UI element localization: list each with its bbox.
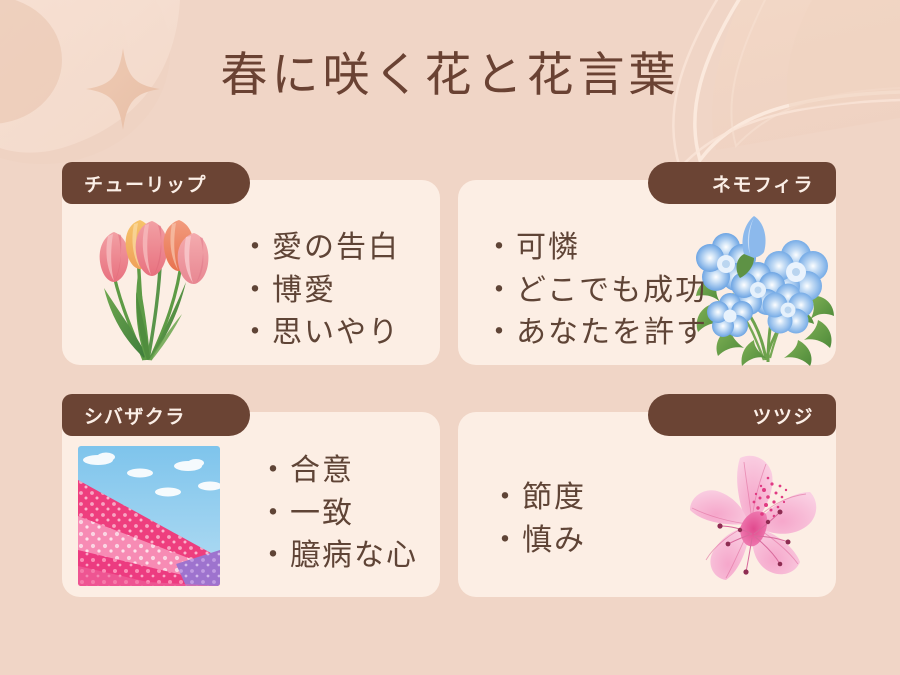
meaning-list-nemophila: 可憐 どこでも成功 あなたを許す (484, 227, 708, 355)
meaning-list-tulip: 愛の告白 博愛 思いやり (240, 227, 400, 355)
nemophila-bloom (696, 216, 828, 337)
list-item: 一致 (258, 493, 418, 536)
list-item: 可憐 (484, 227, 708, 270)
moss-phlox-field-illustration (78, 446, 220, 586)
tab-label-shibazakura: シバザクラ (84, 402, 186, 429)
tab-label-nemophila: ネモフィラ (712, 170, 814, 197)
tab-tulip[interactable]: チューリップ (62, 162, 250, 204)
list-item: 節度 (490, 477, 586, 520)
list-item: 臆病な心 (258, 535, 418, 578)
list-item: 慎み (490, 520, 586, 563)
list-item: 合意 (258, 450, 418, 493)
list-item: 思いやり (240, 312, 400, 355)
meaning-list-shibazakura: 合意 一致 臆病な心 (258, 450, 418, 578)
tab-azalea[interactable]: ツツジ (648, 394, 836, 436)
nemophila-flowers-illustration (692, 208, 844, 368)
list-item: あなたを許す (484, 312, 708, 355)
list-item: 博愛 (240, 270, 400, 313)
tab-shibazakura[interactable]: シバザクラ (62, 394, 250, 436)
tab-label-azalea: ツツジ (752, 402, 814, 429)
tulip-bouquet-illustration (78, 218, 228, 366)
page-title: 春に咲く花と花言葉 (0, 36, 900, 105)
list-item: 愛の告白 (240, 227, 400, 270)
slide-canvas: 春に咲く花と花言葉 (0, 0, 900, 675)
azalea-flower-illustration (668, 450, 840, 592)
tab-label-tulip: チューリップ (84, 170, 207, 197)
list-item: どこでも成功 (484, 270, 708, 313)
meaning-list-azalea: 節度 慎み (490, 477, 586, 562)
tab-nemophila[interactable]: ネモフィラ (648, 162, 836, 204)
